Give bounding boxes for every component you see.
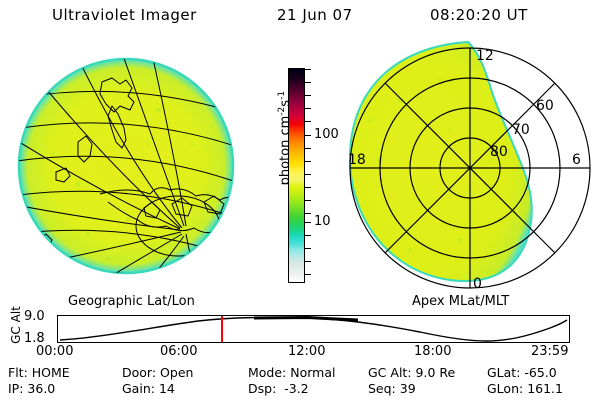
apogee-segment xyxy=(254,318,358,321)
colorbar-tick xyxy=(304,121,311,122)
colorbar-tick xyxy=(304,148,311,149)
mlt-label-18: 18 xyxy=(348,152,366,168)
colorbar-tick-major xyxy=(304,135,311,136)
geographic-image-panel[interactable] xyxy=(8,44,260,292)
colorbar-tick xyxy=(304,161,311,162)
status-gc-alt: GC Alt: 9.0 Re xyxy=(368,365,455,380)
colorbar-tick xyxy=(304,213,311,214)
colorbar-gradient xyxy=(289,69,304,282)
mlt-label-0: 0 xyxy=(473,276,482,292)
colorbar-tick xyxy=(304,108,311,109)
status-dsp: Dsp: -3.2 xyxy=(248,381,309,396)
status-flight: Flt: HOME xyxy=(8,365,70,380)
colorbar-tick xyxy=(304,187,311,188)
colorbar-tick xyxy=(304,200,311,201)
colorbar-tick xyxy=(304,261,311,262)
colorbar-tick-major xyxy=(304,222,311,223)
colorbar-tick xyxy=(304,274,311,275)
orbit-altitude-trace xyxy=(58,316,569,342)
apex-polar-plot: 12 6 0 18 60 70 80 xyxy=(340,40,600,294)
status-gain: Gain: 14 xyxy=(122,381,175,396)
orbit-x-tick-1200: 12:00 xyxy=(288,345,325,358)
current-time-marker xyxy=(221,316,223,342)
orbit-plot-box xyxy=(57,315,570,343)
orbit-x-tick-2359: 23:59 xyxy=(531,345,568,358)
mlat-label-80: 80 xyxy=(490,144,508,160)
observation-date: 21 Jun 07 xyxy=(277,6,353,24)
observation-time: 08:20:20 UT xyxy=(430,6,528,24)
mlat-label-70: 70 xyxy=(512,122,530,138)
orbit-x-tick-0600: 06:00 xyxy=(160,345,197,358)
status-door: Door: Open xyxy=(122,365,193,380)
orbit-x-tick-1800: 18:00 xyxy=(414,345,451,358)
status-ip: IP: 36.0 xyxy=(8,381,55,396)
header-bar: Ultraviolet Imager 21 Jun 07 08:20:20 UT xyxy=(0,6,600,30)
instrument-title: Ultraviolet Imager xyxy=(52,6,197,24)
colorbar-tick xyxy=(304,235,311,236)
colorbar-tick xyxy=(304,82,311,83)
mlt-spokes xyxy=(350,48,590,288)
mlt-label-12: 12 xyxy=(476,48,494,64)
colorbar-panel: photon cm-2s-1 100 10 xyxy=(258,44,342,294)
orbit-altitude-panel[interactable]: GC Alt 9.0 1.8 00:00 06:00 12:00 18:00 2… xyxy=(0,308,600,360)
colorbar-tick xyxy=(304,69,311,70)
colorbar-tick xyxy=(304,248,311,249)
orbit-y-axis-label: GC Alt xyxy=(9,295,23,355)
status-glon: GLon: 161.1 xyxy=(487,381,563,396)
orbit-y-tick-top: 9.0 xyxy=(24,310,45,323)
colorbar-tick xyxy=(304,174,311,175)
uvi-display: Ultraviolet Imager 21 Jun 07 08:20:20 UT xyxy=(0,0,600,400)
status-block: Flt: HOME Door: Open Mode: Normal GC Alt… xyxy=(0,365,600,399)
status-seq: Seq: 39 xyxy=(368,381,416,396)
geographic-panel-subtitle: Geographic Lat/Lon xyxy=(68,294,195,309)
status-mode: Mode: Normal xyxy=(248,365,336,380)
colorbar-tick-label-100: 100 xyxy=(314,128,339,141)
orbit-x-tick-0000: 00:00 xyxy=(36,345,73,358)
mlat-label-60: 60 xyxy=(536,98,554,114)
geographic-projection xyxy=(8,44,260,292)
colorbar-tick-label-10: 10 xyxy=(314,215,331,228)
mlt-label-6: 6 xyxy=(572,152,581,168)
altitude-curve xyxy=(60,317,567,341)
apex-polar-panel[interactable]: 12 6 0 18 60 70 80 xyxy=(340,40,600,294)
status-glat: GLat: -65.0 xyxy=(487,365,557,380)
colorbar-gradient-box xyxy=(288,68,305,283)
colorbar-tick xyxy=(304,95,311,96)
apex-panel-subtitle: Apex MLat/MLT xyxy=(412,294,509,309)
